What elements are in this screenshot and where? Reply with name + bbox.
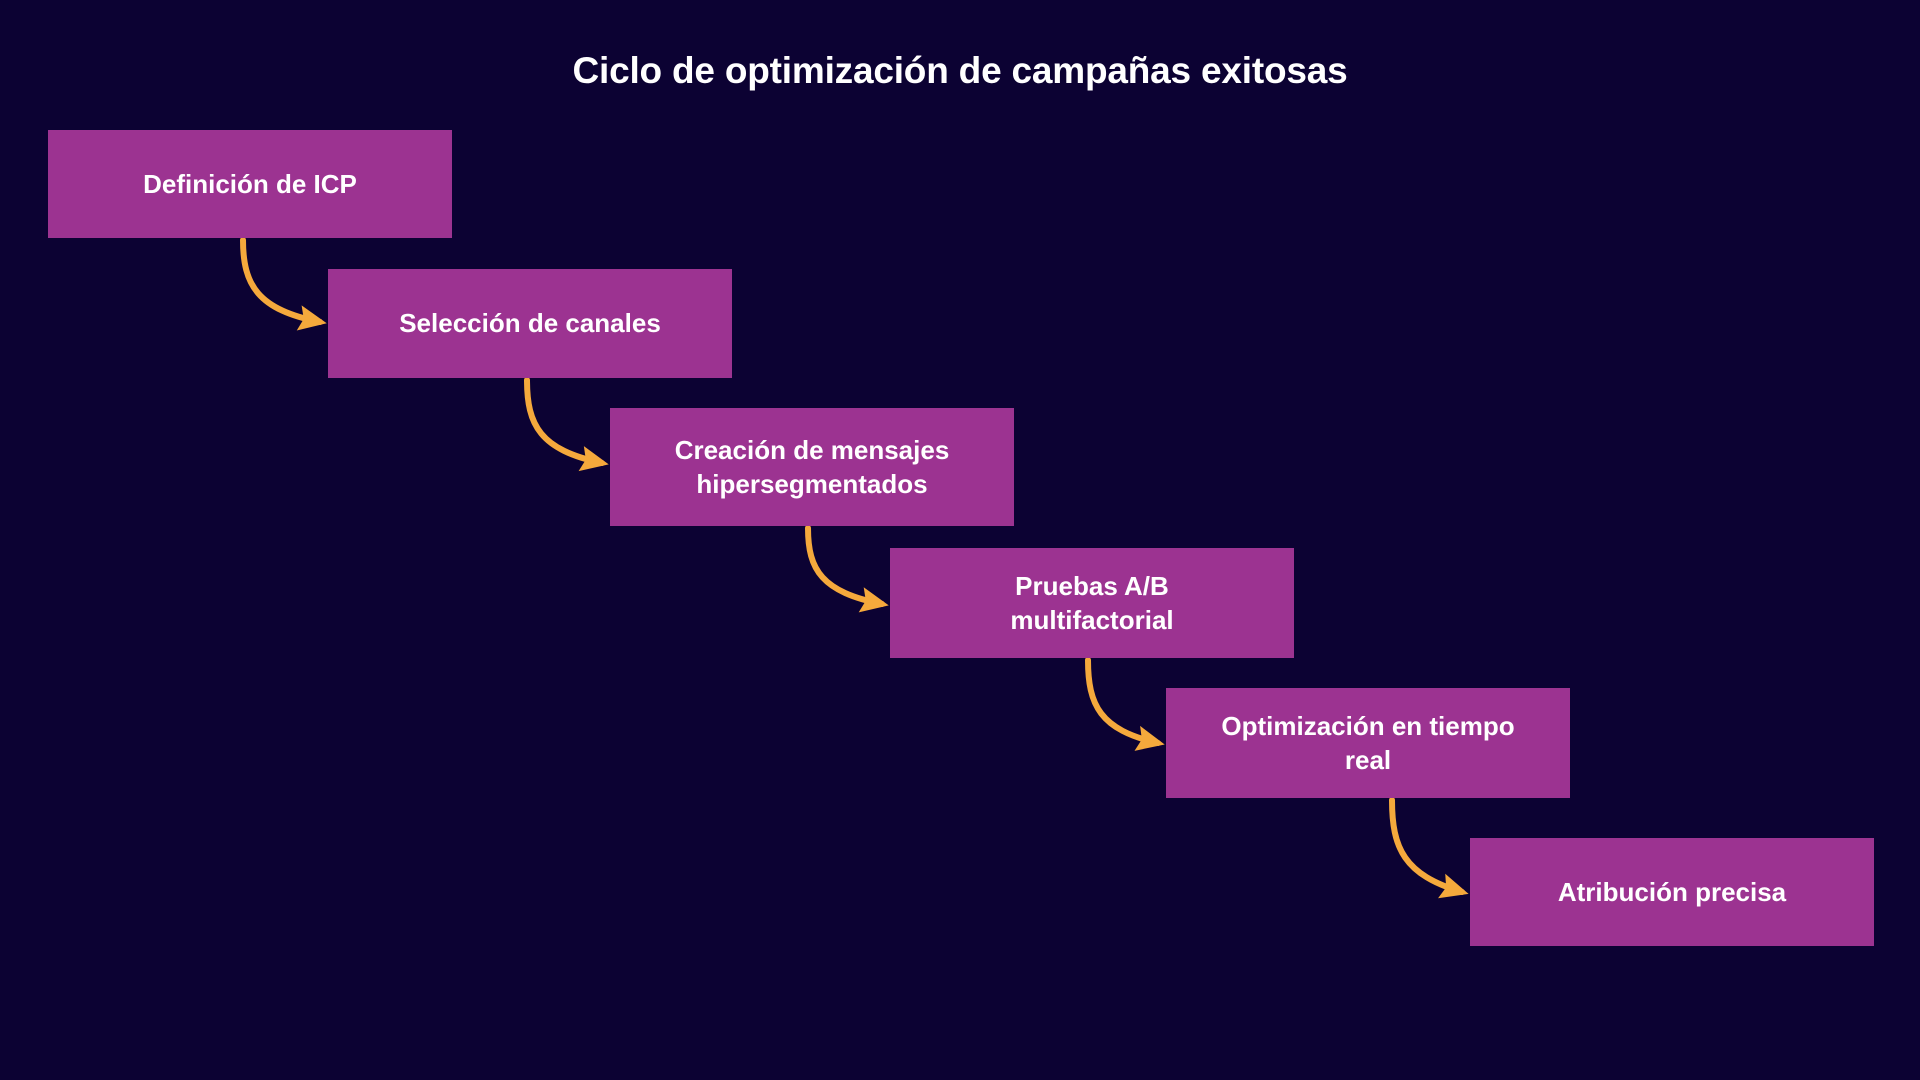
page-title: Ciclo de optimización de campañas exitos… (0, 50, 1920, 92)
flow-node-label: Pruebas A/B multifactorial (1010, 569, 1173, 638)
flow-node[interactable]: Selección de canales (328, 269, 732, 378)
flow-node[interactable]: Optimización en tiempo real (1166, 688, 1570, 798)
flow-connector-arrow (808, 528, 882, 604)
flow-node-label: Atribución precisa (1558, 875, 1786, 909)
flow-connector-arrow (527, 380, 602, 463)
flow-node-label: Definición de ICP (143, 167, 357, 201)
flow-node[interactable]: Creación de mensajes hipersegmentados (610, 408, 1014, 526)
flow-node-label: Optimización en tiempo real (1221, 709, 1514, 778)
flow-connector-arrow (243, 240, 320, 322)
flow-node-label: Selección de canales (399, 306, 661, 340)
flow-node[interactable]: Definición de ICP (48, 130, 452, 238)
flow-connector-arrow (1088, 660, 1158, 743)
diagram-canvas: Ciclo de optimización de campañas exitos… (0, 0, 1920, 1080)
flow-connector-arrow (1392, 800, 1462, 892)
flow-node[interactable]: Pruebas A/B multifactorial (890, 548, 1294, 658)
flow-node[interactable]: Atribución precisa (1470, 838, 1874, 946)
flow-node-label: Creación de mensajes hipersegmentados (675, 433, 950, 502)
